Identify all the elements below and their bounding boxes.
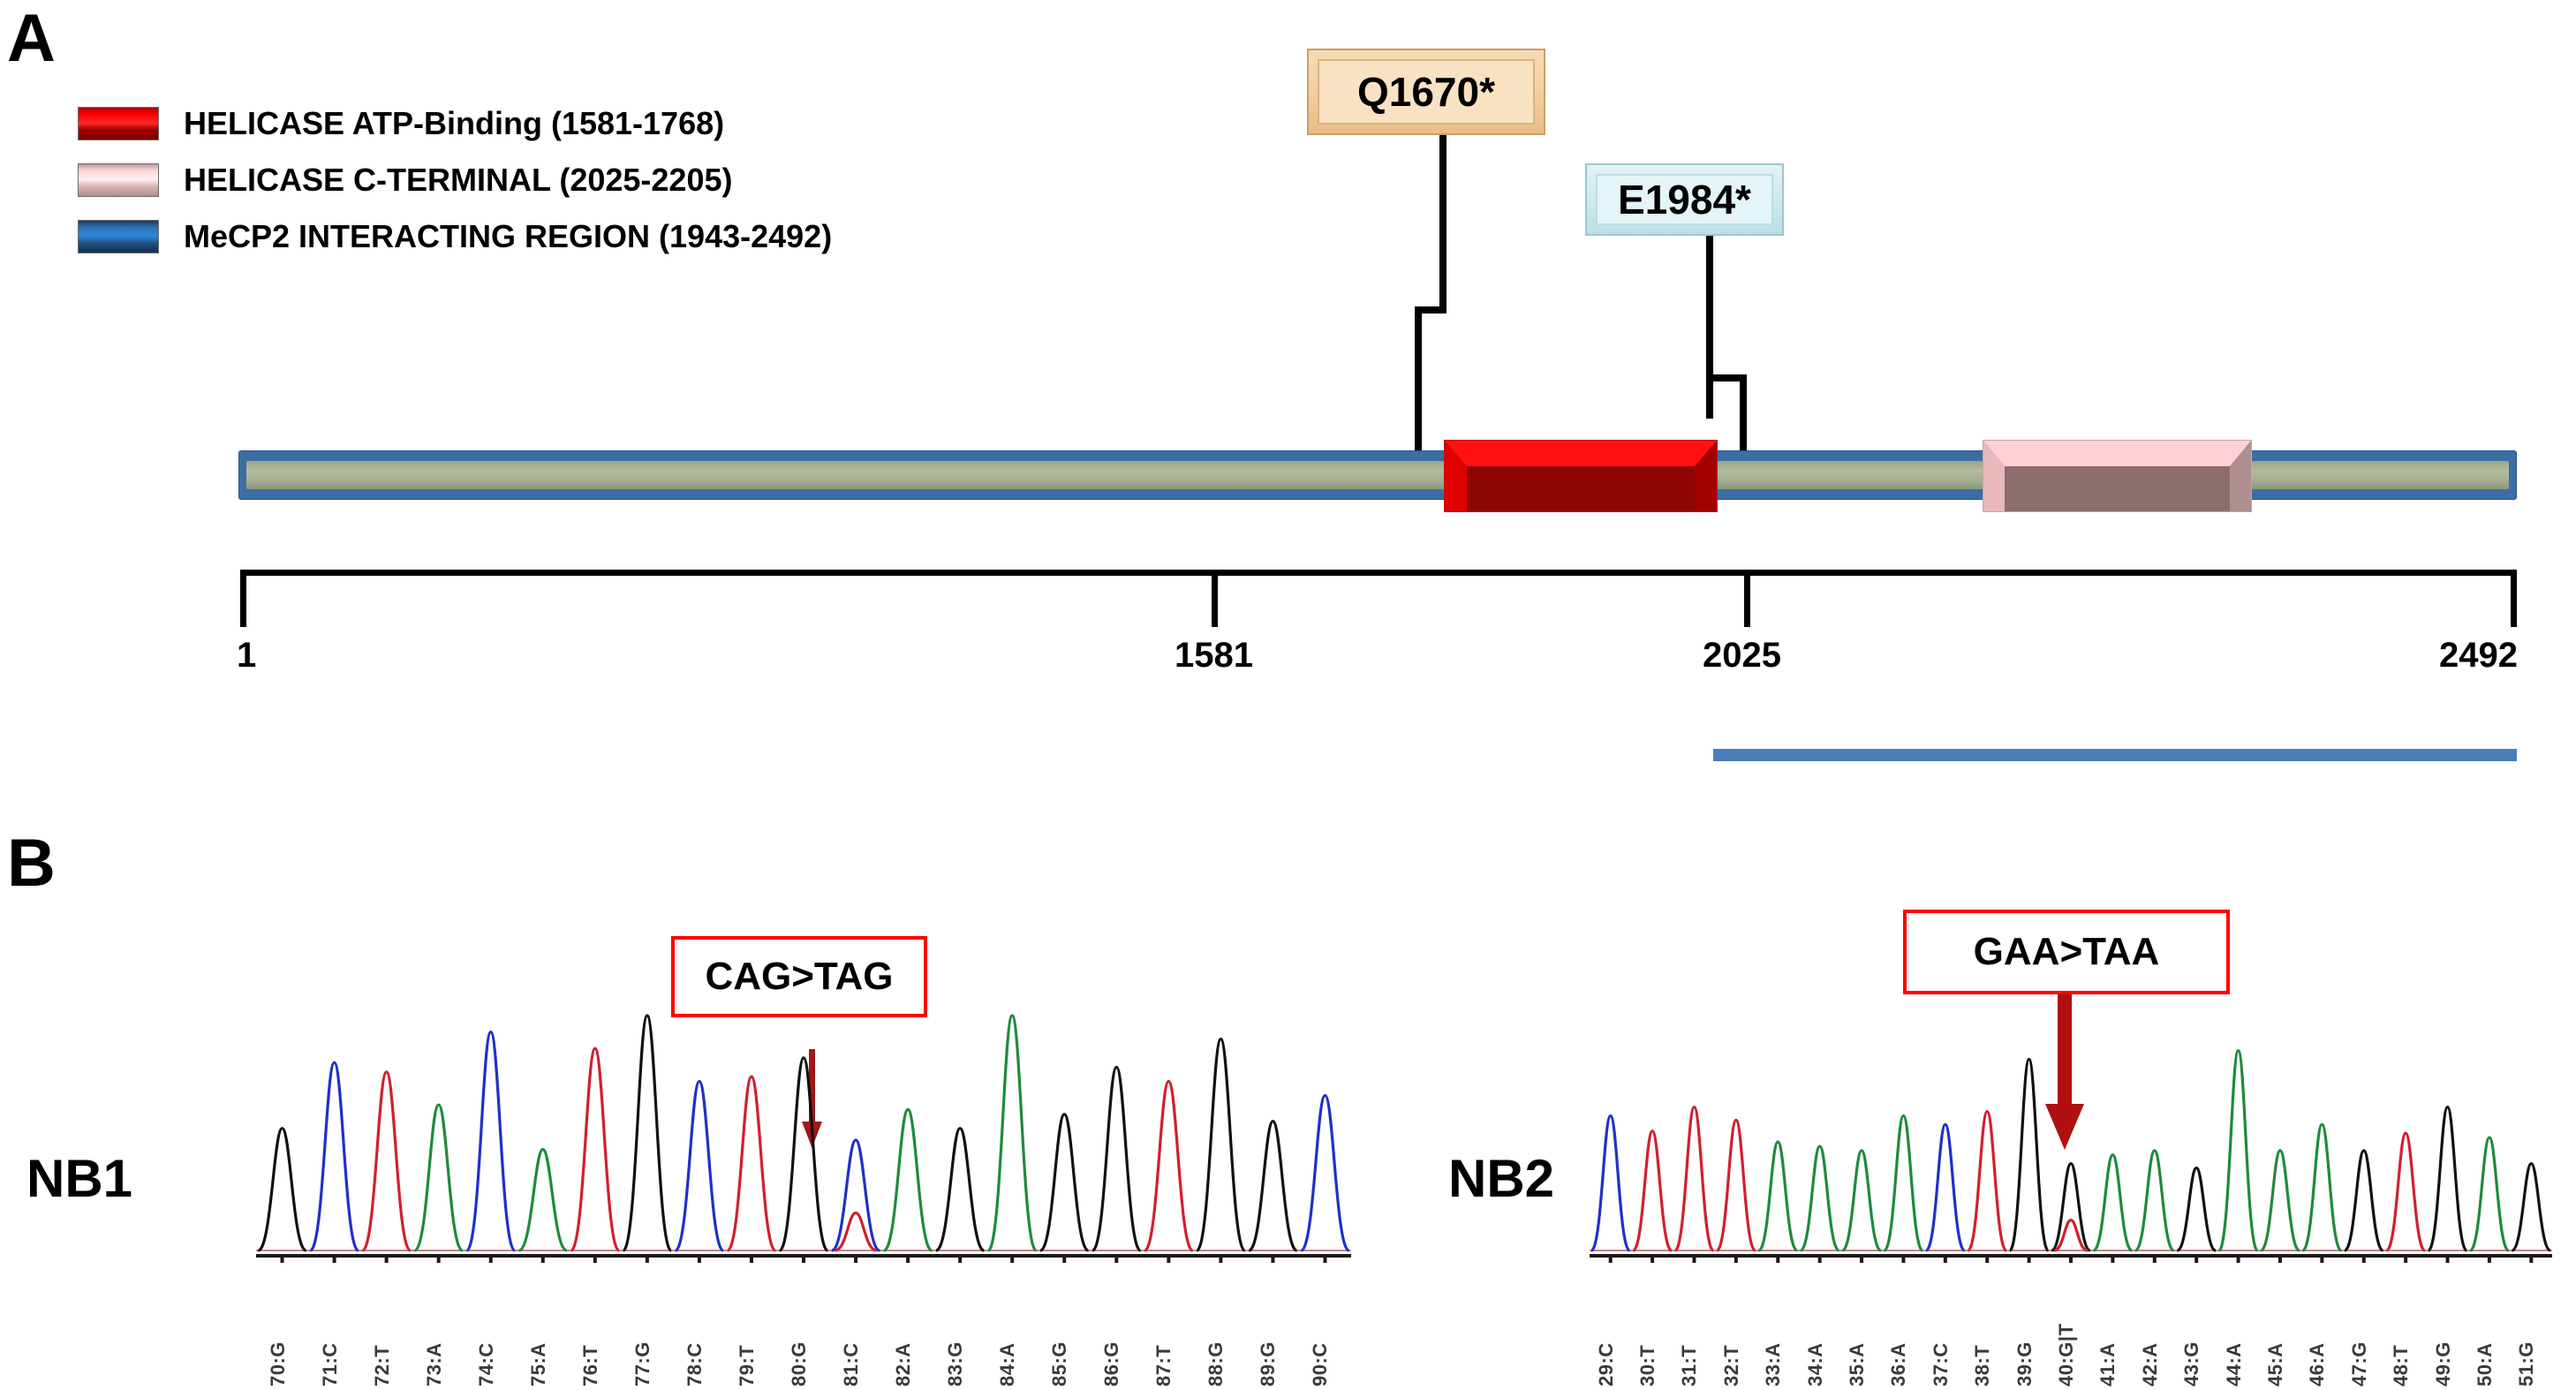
base-call-label: 47:G: [2348, 1341, 2371, 1386]
ruler-baseline: [240, 570, 2517, 576]
base-call-label: 38:T: [1971, 1345, 1994, 1386]
mutation-callout-e1984: E1984*: [1585, 163, 1784, 236]
leader-line-e1984-vertical-upper: [1706, 236, 1713, 419]
chromatogram-trace-nb2: [1590, 1016, 2552, 1263]
mutation-label-q1670: Q1670*: [1357, 68, 1495, 116]
sample-label-nb2: NB2: [1448, 1148, 1554, 1209]
mutation-annotation-nb2: GAA>TAA: [1903, 910, 2230, 994]
legend-label-mecp2: MeCP2 INTERACTING REGION (1943-2492): [184, 218, 832, 255]
mutation-annotation-text-nb1: CAG>TAG: [705, 955, 893, 999]
base-call-label: 83:G: [944, 1341, 967, 1386]
ruler-label-1581: 1581: [1175, 636, 1253, 676]
legend-item-helicase-atp: HELICASE ATP-Binding (1581-1768): [78, 99, 832, 147]
base-call-label: 44:A: [2223, 1342, 2246, 1386]
leader-line-q1670-vertical-lower: [1415, 306, 1422, 463]
chromatogram-trace-nb1: [256, 998, 1351, 1263]
mecp2-interacting-region-bar: [1713, 749, 2517, 761]
base-call-label: 41:A: [2096, 1342, 2119, 1386]
base-call-label: 50:A: [2474, 1342, 2497, 1386]
leader-line-q1670-vertical-upper: [1439, 135, 1447, 312]
base-call-label: 70:G: [267, 1341, 290, 1386]
domain-block-helicase-atp: [1444, 440, 1718, 512]
red-swatch-icon: [78, 107, 159, 140]
base-call-label: 90:C: [1309, 1342, 1332, 1386]
base-call-label: 43:G: [2180, 1341, 2203, 1386]
domain-block-helicase-cterm: [1983, 440, 2252, 512]
base-call-label: 42:A: [2139, 1342, 2162, 1386]
base-call-label: 76:T: [579, 1345, 602, 1386]
base-call-labels-nb1: 70:G71:C72:T73:A74:C75:A76:T77:G78:C79:T…: [256, 1280, 1351, 1390]
base-call-label: 72:T: [371, 1345, 394, 1386]
base-call-label: 30:T: [1636, 1345, 1659, 1386]
base-call-label: 73:A: [423, 1342, 446, 1386]
base-call-label: 74:C: [475, 1342, 498, 1386]
ruler-tick-2025: [1744, 570, 1750, 627]
mutation-callout-q1670: Q1670*: [1307, 49, 1545, 135]
mutation-label-e1984: E1984*: [1618, 176, 1751, 223]
base-call-label: 86:G: [1100, 1341, 1123, 1386]
legend-item-mecp2: MeCP2 INTERACTING REGION (1943-2492): [78, 212, 832, 261]
legend-label-helicase-cterm: HELICASE C-TERMINAL (2025-2205): [184, 162, 732, 199]
base-call-label: 32:T: [1720, 1345, 1743, 1386]
base-call-label: 31:T: [1678, 1345, 1701, 1386]
ruler-tick-1581: [1212, 570, 1218, 627]
blue-swatch-icon: [78, 220, 159, 253]
base-call-labels-nb2: 29:C30:T31:T32:T33:A34:A35:A36:A37:C38:T…: [1590, 1280, 2552, 1390]
base-call-label: 37:C: [1930, 1342, 1953, 1386]
ruler-tick-2492: [2511, 570, 2517, 627]
base-call-label: 80:G: [788, 1341, 811, 1386]
base-call-label: 46:A: [2306, 1342, 2329, 1386]
base-call-label: 33:A: [1762, 1342, 1785, 1386]
base-call-label: 75:A: [527, 1342, 550, 1386]
legend-item-helicase-cterm: HELICASE C-TERMINAL (2025-2205): [78, 155, 832, 204]
protein-schematic: [238, 450, 2517, 500]
panel-a-letter: A: [7, 5, 55, 72]
base-call-label: 79:T: [736, 1345, 759, 1386]
base-call-label: 71:C: [319, 1342, 342, 1386]
base-call-label: 34:A: [1804, 1342, 1827, 1386]
base-call-label: 82:A: [892, 1342, 915, 1386]
ruler-label-1: 1: [237, 636, 256, 676]
base-call-label: 78:C: [684, 1342, 706, 1386]
base-call-label: 35:A: [1846, 1342, 1869, 1386]
base-call-label: 51:G: [2515, 1341, 2538, 1386]
base-call-label: 87:T: [1152, 1345, 1175, 1386]
ruler-label-2492: 2492: [2439, 636, 2518, 676]
ruler-label-2025: 2025: [1703, 636, 1781, 676]
pink-swatch-icon: [78, 163, 159, 197]
base-call-label: 89:G: [1257, 1341, 1280, 1386]
base-call-label: 84:A: [996, 1342, 1019, 1386]
base-call-label: 45:A: [2264, 1342, 2287, 1386]
base-call-label: 48:T: [2390, 1345, 2413, 1386]
base-call-label: 88:G: [1205, 1341, 1228, 1386]
base-call-label: 29:C: [1595, 1342, 1618, 1386]
base-call-label: 39:G: [2013, 1341, 2036, 1386]
ruler-tick-1: [240, 570, 246, 627]
base-call-label: 49:G: [2432, 1341, 2455, 1386]
mutation-annotation-text-nb2: GAA>TAA: [1974, 930, 2160, 974]
base-call-label: 77:G: [631, 1341, 654, 1386]
sample-label-nb1: NB1: [26, 1148, 132, 1209]
base-call-label: 36:A: [1887, 1342, 1910, 1386]
base-call-label: 81:C: [840, 1342, 863, 1386]
domain-legend: HELICASE ATP-Binding (1581-1768) HELICAS…: [78, 99, 832, 268]
legend-label-helicase-atp: HELICASE ATP-Binding (1581-1768): [184, 105, 724, 142]
base-call-label: 40:G|T: [2055, 1323, 2078, 1386]
base-call-label: 85:G: [1048, 1341, 1071, 1386]
panel-b-letter: B: [7, 830, 55, 897]
